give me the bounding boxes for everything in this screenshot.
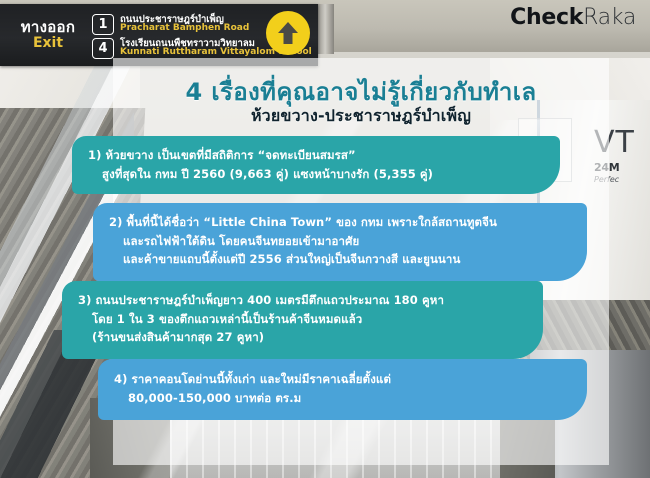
exit-label-english: Exit: [4, 36, 92, 51]
fact-line: และรถไฟฟ้าใต้ดิน โดยคนจีนทยอยเข้ามาอาศัย: [109, 232, 573, 251]
fact-line: 1) ห้วยขวาง เป็นเขตที่มีสถิติการ “จดทะเบ…: [88, 146, 546, 165]
fact-line: 2) พื้นที่นี้ได้ชื่อว่า “Little China To…: [109, 213, 573, 232]
fact-line: 80,000-150,000 บาทต่อ ตร.ม: [114, 389, 573, 408]
exit-label-thai: ทางออก: [4, 20, 92, 36]
fact-box-1: 1) ห้วยขวาง เป็นเขตที่มีสถิติการ “จดทะเบ…: [72, 136, 560, 194]
fact-box-3: 3) ถนนประชาราษฎร์บำเพ็ญยาว 400 เมตรมีตึก…: [62, 281, 543, 359]
fact-box-4: 4) ราคาคอนโดย่านนี้ทั้งเก่า และใหม่มีราค…: [98, 359, 587, 420]
screenshot-root: VT 24M Perfec ทางออก Exit 1 ถนนประชาราษฎ…: [0, 0, 650, 478]
logo-text-light: Raka: [583, 5, 636, 30]
fact-box-2: 2) พื้นที่นี้ได้ชื่อว่า “Little China To…: [93, 203, 587, 281]
sign-mounting-post: [318, 4, 334, 54]
station-exit-sign: ทางออก Exit 1 ถนนประชาราษฎร์บำเพ็ญ Prach…: [0, 4, 318, 66]
exit-destination-text: ถนนประชาราษฎร์บำเพ็ญ Pracharat Bamphen R…: [120, 15, 249, 34]
exit-label: ทางออก Exit: [0, 20, 92, 50]
logo-text-bold: Check: [510, 5, 583, 30]
checkraka-logo[interactable]: CheckRaka: [510, 5, 636, 30]
fact-line: และค้าขายแถบนี้ตั้งแต่ปี 2556 ส่วนใหญ่เป…: [109, 250, 573, 269]
up-arrow-icon: [266, 11, 310, 55]
exit-number-badge: 1: [92, 14, 114, 35]
page-subtitle: ห้วยขวาง-ประชาราษฎร์บำเพ็ญ: [113, 104, 609, 129]
fact-line: 4) ราคาคอนโดย่านนี้ทั้งเก่า และใหม่มีราค…: [114, 370, 573, 389]
fact-line: สูงที่สุดใน กทม ปี 2560 (9,663 คู่) แซงห…: [88, 165, 546, 184]
exit-number-badge: 4: [92, 38, 114, 59]
fact-line: (ร้านขนส่งสินค้ามากสุด 27 คูหา): [78, 328, 529, 347]
exit-destination-english: Pracharat Bamphen Road: [120, 24, 249, 33]
fact-line: 3) ถนนประชาราษฎร์บำเพ็ญยาว 400 เมตรมีตึก…: [78, 291, 529, 310]
fact-line: โดย 1 ใน 3 ของตึกแถวเหล่านี้เป็นร้านค้าจ…: [78, 310, 529, 329]
